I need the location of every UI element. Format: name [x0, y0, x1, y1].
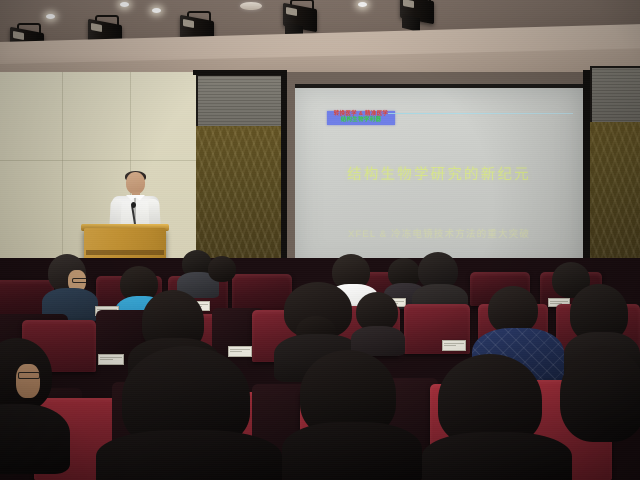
wood-wall-left — [196, 126, 282, 274]
wall-header-left — [193, 70, 287, 75]
slide-subtitle: XFEL & 冷冻电镜技术方法的重大突破 — [295, 226, 583, 240]
slide-title: 结构生物学研究的新纪元 — [295, 163, 583, 184]
downlight-2 — [152, 8, 161, 13]
slide-rule — [388, 113, 573, 114]
seat-label-r2-1 — [98, 354, 124, 365]
slide-badge: 转换医学 & 精准医学 结构生物学利器 — [327, 111, 395, 125]
downlight-4 — [120, 2, 129, 7]
wall-frame-left — [281, 74, 287, 274]
wall-frame-right — [583, 70, 590, 278]
audience-seating — [0, 258, 640, 480]
seat-label-r2-2 — [228, 346, 252, 357]
downlight-3 — [358, 2, 367, 7]
wood-wall-right — [590, 122, 640, 278]
seat-label-r2-3 — [442, 340, 466, 351]
lecture-hall-photo: 转换医学 & 精准医学 结构生物学利器 结构生物学研究的新纪元 XFEL & 冷… — [0, 0, 640, 480]
microphone-head — [131, 202, 136, 208]
ceiling-fixture-1 — [240, 2, 262, 10]
downlight-1 — [46, 14, 55, 19]
podium-band — [86, 250, 164, 255]
acoustic-panel-left — [196, 74, 286, 130]
seat-r1-4 — [232, 274, 292, 310]
speaker-head — [126, 172, 145, 194]
slide-badge-line2: 结构生物学利器 — [330, 118, 392, 124]
acoustic-panel-right — [590, 66, 640, 126]
